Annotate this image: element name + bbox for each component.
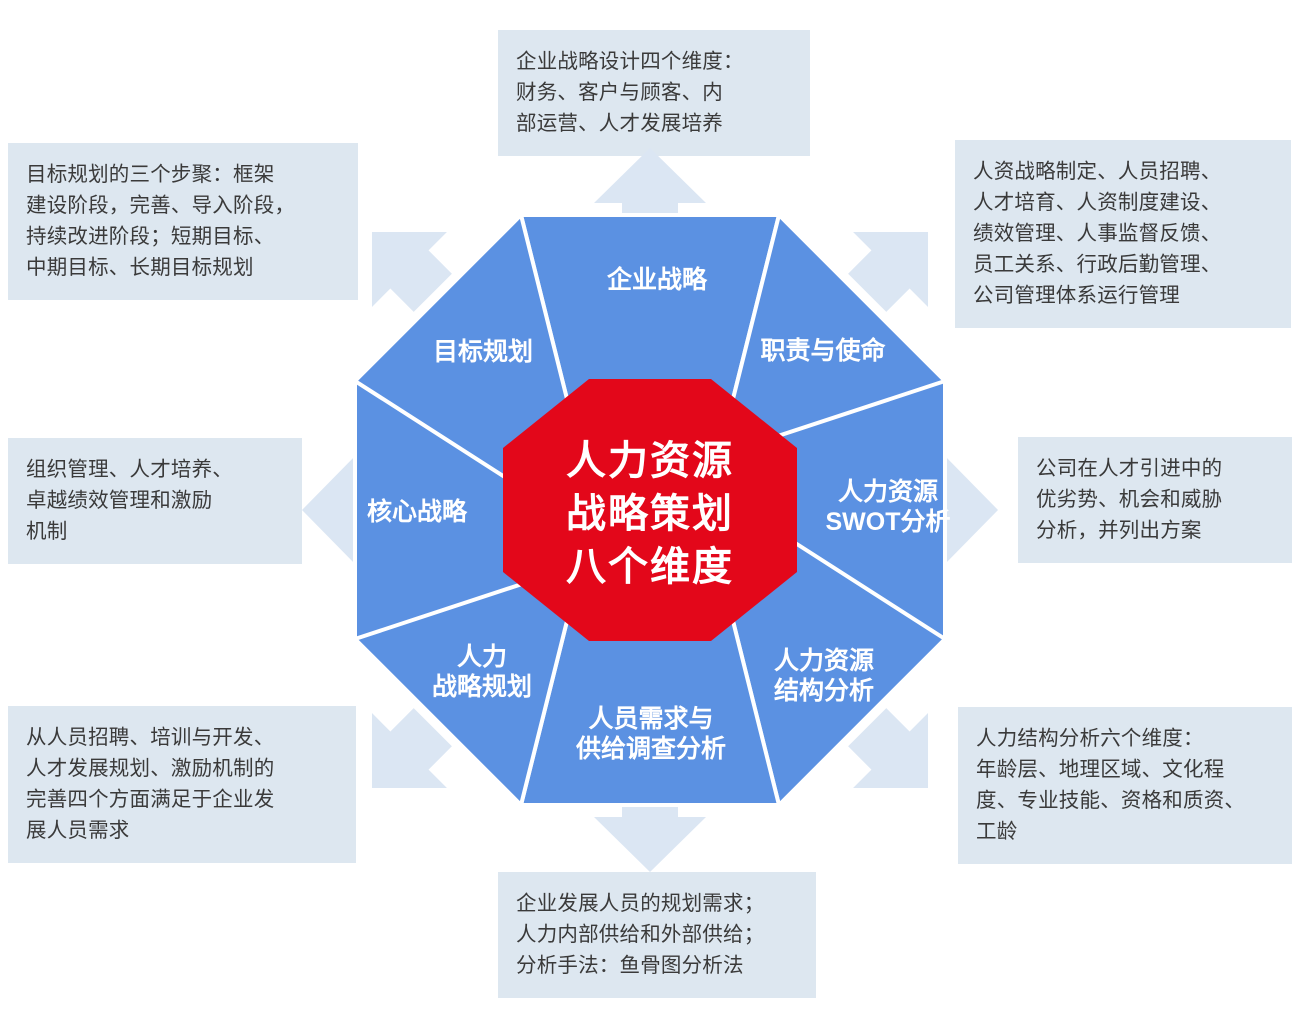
- segment-label-hr-structure-analysis-line2: 结构分析: [774, 677, 874, 705]
- segment-label-hr-strategic-planning-line2: 战略规划: [432, 672, 532, 701]
- arrow-down-icon: [594, 782, 706, 872]
- core-label-line1: 人力资源: [566, 439, 734, 483]
- callout-top-right-duty-mission: 人资战略制定、人员招聘、 人才培育、人资制度建设、 绩效管理、人事监督反馈、 员…: [955, 140, 1291, 328]
- arrow-up-right-icon: [830, 195, 966, 331]
- callout-left-core-strategy: 组织管理、人才培养、 卓越绩效管理和激励 机制: [8, 438, 302, 564]
- callout-bottom-left-hr-planning: 从人员招聘、培训与开发、 人才发展规划、激励机制的 完善四个方面满足于企业发 展…: [8, 706, 356, 863]
- callout-top-left-goal-planning: 目标规划的三个步聚：框架 建设阶段，完善、导入阶段， 持续改进阶段；短期目标、 …: [8, 143, 358, 300]
- core-label-line2: 战略策划: [566, 492, 734, 536]
- core-label-line3: 八个维度: [566, 545, 734, 589]
- segment-core-strategy[interactable]: [355, 381, 525, 639]
- callout-bottom-demand-supply: 企业发展人员的规划需求； 人力内部供给和外部供给； 分析手法：鱼骨图分析法: [498, 872, 816, 998]
- segment-duty-and-mission[interactable]: [723, 215, 945, 490]
- diagram-canvas: 企业战略设计四个维度： 财务、客户与顾客、内 部运营、人才发展培养 人资战略制定…: [0, 0, 1300, 1018]
- segment-demand-supply-survey[interactable]: [521, 581, 779, 805]
- segment-label-demand-supply-line1: 人员需求与: [588, 705, 713, 733]
- segment-label-enterprise-strategy: 企业战略: [607, 265, 708, 294]
- segment-label-demand-supply-line2: 供给调查分析: [575, 734, 726, 763]
- segment-label-hr-structure-analysis-line1: 人力资源: [774, 647, 874, 675]
- segment-label-hr-swot-analysis-line1: 人力资源: [838, 478, 938, 506]
- callout-top-enterprise-strategy: 企业战略设计四个维度： 财务、客户与顾客、内 部运营、人才发展培养: [498, 30, 810, 156]
- arrow-left-icon: [302, 454, 392, 566]
- arrow-right-icon: [908, 454, 998, 566]
- callout-bottom-right-hr-structure: 人力结构分析六个维度： 年龄层、地理区域、文化程 度、专业技能、资格和质资、 工…: [958, 707, 1292, 864]
- callout-right-hr-swot: 公司在人才引进中的 优劣势、机会和威胁 分析，并列出方案: [1018, 437, 1292, 563]
- core-octagon[interactable]: [503, 379, 797, 641]
- segment-label-hr-strategic-planning-line1: 人力: [457, 643, 507, 671]
- segment-hr-strategic-planning[interactable]: [355, 530, 577, 805]
- segment-label-core-strategy: 核心战略: [367, 497, 468, 526]
- segment-label-duty-and-mission: 职责与使命: [760, 336, 886, 365]
- segment-hr-structure-analysis[interactable]: [723, 530, 945, 805]
- arrow-down-right-icon: [830, 690, 966, 826]
- segment-label-hr-swot-analysis-line2: SWOT分析: [826, 508, 951, 536]
- segment-goal-planning[interactable]: [355, 215, 577, 490]
- segment-enterprise-strategy[interactable]: [521, 215, 779, 439]
- segment-hr-swot-analysis[interactable]: [775, 381, 945, 639]
- arrow-up-icon: [594, 148, 706, 238]
- segment-label-goal-planning: 目标规划: [433, 338, 533, 366]
